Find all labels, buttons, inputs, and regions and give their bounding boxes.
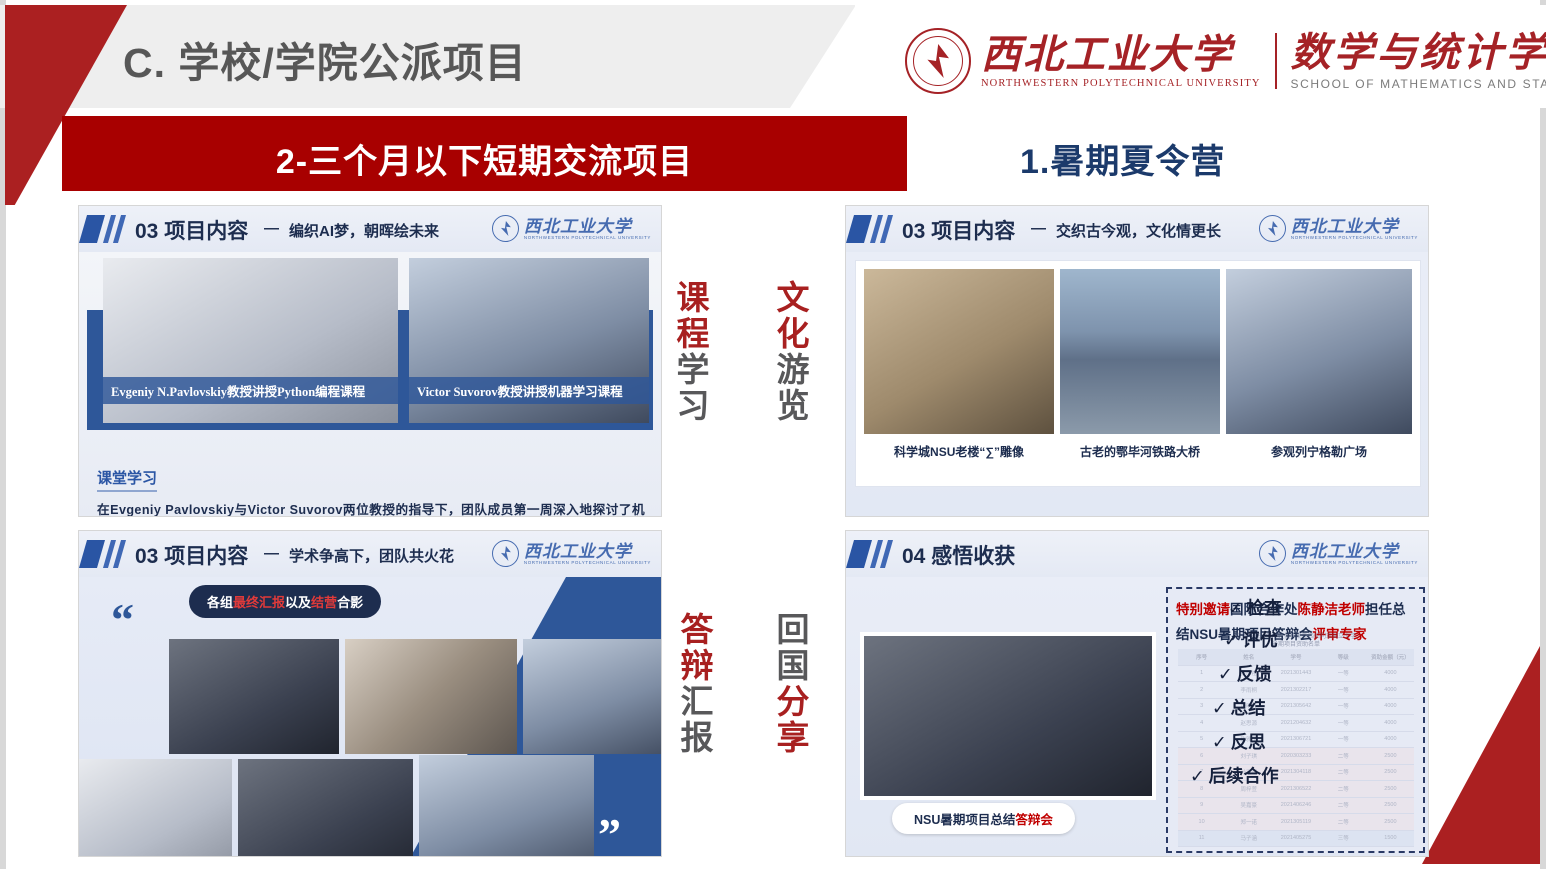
pill-hl1: 最终汇报 bbox=[233, 595, 285, 610]
school-name-en: SCHOOL OF MATHEMATICS AND STATISTICS bbox=[1291, 77, 1546, 91]
table-cell: 2021305642 bbox=[1272, 703, 1319, 709]
card2-logo-cn: 西北工业大学 bbox=[524, 543, 651, 560]
university-name-en: NORTHWESTERN POLYTECHNICAL UNIVERSITY bbox=[981, 78, 1261, 89]
side-label-return-share: 回国分享 bbox=[768, 612, 812, 756]
table-cell: 2020303233 bbox=[1272, 753, 1319, 759]
table-cell: 三等 bbox=[1320, 834, 1367, 842]
table-cell: 9 bbox=[1178, 802, 1225, 808]
table-cell: 2500 bbox=[1367, 786, 1414, 792]
card1-dash: — bbox=[264, 220, 279, 237]
card3-caption-1: 科学城NSU老楼“∑”雕像 bbox=[864, 443, 1054, 460]
card3-logo-cn: 西北工业大学 bbox=[1291, 218, 1418, 235]
table-cell: 2500 bbox=[1367, 769, 1414, 775]
side-label-tour: 游览 bbox=[772, 352, 809, 424]
table-header-cell: 姓名 bbox=[1225, 653, 1272, 661]
card3-caption-3: 参观列宁格勒广场 bbox=[1226, 443, 1412, 460]
table-row: 10郑一诺2021305119二等2500 bbox=[1178, 814, 1414, 831]
table-cell: 马子涵 bbox=[1225, 834, 1272, 842]
corner-accent-bottom-right bbox=[1422, 646, 1540, 864]
table-cell: 10 bbox=[1178, 819, 1225, 825]
card3-caption-2: 古老的鄂毕河铁路大桥 bbox=[1060, 443, 1220, 460]
school-name-cn: 数学与统计学院 bbox=[1291, 32, 1546, 74]
card4-capsule-label: NSU暑期项目总结答辩会 bbox=[892, 803, 1075, 834]
card3-number: 03 bbox=[902, 220, 925, 243]
card4-title: 感悟收获 bbox=[931, 545, 1015, 568]
banner-short-term-program: 2-三个月以下短期交流项目 bbox=[62, 116, 907, 191]
table-cell: 一等 bbox=[1320, 686, 1367, 694]
card4-heading: 04 感悟收获 bbox=[902, 540, 1015, 570]
slash-bars-icon bbox=[846, 531, 898, 577]
card2-photo-mask-rcnn-report bbox=[419, 755, 594, 857]
table-cell: 二等 bbox=[1320, 818, 1367, 826]
card4-university-logo-icon: 西北工业大学NORTHWESTERN POLYTECHNICAL UNIVERS… bbox=[1259, 540, 1418, 567]
card3-subtitle: 交织古今观，文化情更长 bbox=[1056, 220, 1221, 241]
table-cell: 2500 bbox=[1367, 819, 1414, 825]
table-cell: 2500 bbox=[1367, 802, 1414, 808]
table-cell: 2021306522 bbox=[1272, 786, 1319, 792]
side-label-defense: 答辩 bbox=[676, 612, 713, 684]
table-cell: 4000 bbox=[1367, 703, 1414, 709]
side-label-study: 学习 bbox=[672, 352, 709, 424]
university-logo: 西北工业大学 NORTHWESTERN POLYTECHNICAL UNIVER… bbox=[905, 28, 1546, 94]
table-cell: 2021301443 bbox=[1272, 670, 1319, 676]
table-cell: 1500 bbox=[1367, 835, 1414, 841]
table-row: 11马子涵2021405275三等1500 bbox=[1178, 831, 1414, 848]
card3-title: 项目内容 bbox=[931, 220, 1015, 243]
slash-bars-icon bbox=[79, 206, 131, 252]
card4-logo-en: NORTHWESTERN POLYTECHNICAL UNIVERSITY bbox=[1291, 560, 1418, 565]
table-cell: 2021304118 bbox=[1272, 769, 1319, 775]
quote-close-icon: ” bbox=[598, 820, 621, 850]
table-caption-line2: 暑期项目资助名单 bbox=[1178, 641, 1414, 649]
side-label-culture-tour: 文化游览 bbox=[768, 280, 812, 424]
card1-title: 项目内容 bbox=[164, 220, 248, 243]
card1-header: 03 项目内容 — 编织AI梦，朝晖绘未来 西北工业大学NORTHWESTERN… bbox=[79, 206, 661, 253]
banner-summer-camp: 1.暑期夏令营 bbox=[930, 116, 1546, 191]
table-cell: 一等 bbox=[1320, 719, 1367, 727]
table-cell: 4000 bbox=[1367, 687, 1414, 693]
table-cell: 2021306721 bbox=[1272, 736, 1319, 742]
panel-hl2: 陈静洁老师 bbox=[1298, 602, 1366, 617]
card1-logo-en: NORTHWESTERN POLYTECHNICAL UNIVERSITY bbox=[524, 235, 651, 240]
side-label-course-study: 课程学习 bbox=[668, 280, 712, 424]
table-cell: 二等 bbox=[1320, 768, 1367, 776]
quote-open-icon: “ bbox=[111, 605, 134, 635]
card1-caption-2: Victor Suvorov教授讲授机器学习课程 bbox=[409, 377, 649, 404]
card3-university-logo-icon: 西北工业大学NORTHWESTERN POLYTECHNICAL UNIVERS… bbox=[1259, 215, 1418, 242]
table-row: 1吴彦祖2021301443一等4000 bbox=[1178, 666, 1414, 683]
checklist-item-2: ✓反馈 bbox=[1218, 661, 1272, 686]
pill-post: 合影 bbox=[337, 595, 363, 610]
school-name-block: 数学与统计学院 SCHOOL OF MATHEMATICS AND STATIS… bbox=[1291, 32, 1546, 91]
side-label-defense-report: 答辩汇报 bbox=[672, 612, 716, 756]
card2-body: “ 各组最终汇报以及结营合影 ” bbox=[79, 577, 661, 856]
card2-logo-en: NORTHWESTERN POLYTECHNICAL UNIVERSITY bbox=[524, 560, 651, 565]
table-header-cell: 资助金额（元） bbox=[1367, 653, 1414, 661]
side-label-share: 分享 bbox=[772, 684, 809, 756]
side-label-report: 汇报 bbox=[676, 684, 713, 756]
card2-dash: — bbox=[264, 545, 279, 562]
checklist-item-3: ✓总结 bbox=[1212, 695, 1266, 720]
checklist-item-5: ✓后续合作 bbox=[1190, 763, 1279, 788]
card2-subtitle: 学术争高下，团队共火花 bbox=[289, 545, 454, 566]
table-cell: 郑一诺 bbox=[1225, 818, 1272, 826]
checklist-item-0: ✓检查 bbox=[1228, 595, 1282, 620]
table-cell: 一等 bbox=[1320, 702, 1367, 710]
check-icon: ✓ bbox=[1212, 732, 1227, 752]
card4-number: 04 bbox=[902, 545, 925, 568]
check-icon: ✓ bbox=[1224, 630, 1239, 650]
table-cell: 二等 bbox=[1320, 801, 1367, 809]
page-title: C. 学校/学院公派项目 bbox=[123, 29, 527, 89]
table-cell: 二等 bbox=[1320, 785, 1367, 793]
table-cell: 2021406246 bbox=[1272, 802, 1319, 808]
card2-heading: 03 项目内容 bbox=[135, 540, 248, 570]
table-cell: 2021204632 bbox=[1272, 720, 1319, 726]
card2-photo-presentation-1 bbox=[345, 639, 517, 754]
card1-caption-1: Evgeniy N.Pavlovskiy教授讲授Python编程课程 bbox=[103, 377, 398, 404]
checklist-item-1: ✓评优 bbox=[1224, 627, 1278, 652]
card1-note-body: 在Evgeniy Pavlovskiy与Victor Suvorov两位教授的指… bbox=[97, 500, 645, 517]
card4-header: 04 感悟收获 西北工业大学NORTHWESTERN POLYTECHNICAL… bbox=[846, 531, 1428, 578]
check-icon: ✓ bbox=[1190, 766, 1205, 786]
card3-photo-ob-river-bridge bbox=[1060, 269, 1220, 434]
card-reflection-harvest[interactable]: 04 感悟收获 西北工业大学NORTHWESTERN POLYTECHNICAL… bbox=[845, 530, 1429, 857]
card4-body: NSU暑期项目总结答辩会 特别邀请国际合作处陈静洁老师担任总结NSU暑期项目答辩… bbox=[846, 577, 1428, 856]
slash-bars-icon bbox=[79, 531, 131, 577]
table-header-cell: 序号 bbox=[1178, 653, 1225, 661]
card1-note-title: 课堂学习 bbox=[97, 467, 157, 492]
card4-photo-defense-meeting bbox=[860, 632, 1156, 800]
banner-right-label: 1.暑期夏令营 bbox=[1020, 134, 1225, 183]
card-culture-tour[interactable]: 03 项目内容 — 交织古今观，文化情更长 西北工业大学NORTHWESTERN… bbox=[845, 205, 1429, 517]
card4-logo-cn: 西北工业大学 bbox=[1291, 543, 1418, 560]
pill-pre: 各组 bbox=[207, 595, 233, 610]
side-label-return: 回国 bbox=[772, 612, 809, 684]
table-cell: 李雨桐 bbox=[1225, 686, 1272, 694]
pill-mid: 以及 bbox=[285, 595, 311, 610]
card4-invitation-panel: 特别邀请国际合作处陈静洁老师担任总结NSU暑期项目答辩会评审专家 数学与统计学院… bbox=[1166, 587, 1425, 853]
table-cell: 11 bbox=[1178, 835, 1225, 841]
banner-left-label: 2-三个月以下短期交流项目 bbox=[62, 134, 907, 183]
table-cell: 一等 bbox=[1320, 735, 1367, 743]
card2-university-logo-icon: 西北工业大学NORTHWESTERN POLYTECHNICAL UNIVERS… bbox=[492, 540, 651, 567]
slide-root: C. 学校/学院公派项目 西北工业大学 NORTHWESTERN POLYTEC… bbox=[0, 0, 1546, 869]
table-cell: 4000 bbox=[1367, 720, 1414, 726]
checklist-item-4: ✓反思 bbox=[1212, 729, 1266, 754]
university-name-block: 西北工业大学 NORTHWESTERN POLYTECHNICAL UNIVER… bbox=[981, 34, 1261, 89]
table-cell: 吴嘉豪 bbox=[1225, 801, 1272, 809]
slash-bars-icon bbox=[846, 206, 898, 252]
card3-body: 科学城NSU老楼“∑”雕像 古老的鄂毕河铁路大桥 参观列宁格勒广场 bbox=[846, 252, 1428, 516]
card1-note: 课堂学习 在Evgeniy Pavlovskiy与Victor Suvorov两… bbox=[97, 467, 645, 517]
table-header-row: 序号姓名学号等级资助金额（元） bbox=[1178, 649, 1414, 666]
card4-table-caption: 数学与统计学院赴俄罗斯新西伯利亚国立大学 暑期项目资助名单 bbox=[1178, 633, 1414, 649]
table-cell: 二等 bbox=[1320, 752, 1367, 760]
card2-photo-presentation-2 bbox=[523, 639, 662, 754]
table-row: 9吴嘉豪2021406246二等2500 bbox=[1178, 798, 1414, 815]
table-cell: 2021405275 bbox=[1272, 835, 1319, 841]
table-cell: 4000 bbox=[1367, 736, 1414, 742]
card2-pill-label: 各组最终汇报以及结营合影 bbox=[189, 585, 381, 618]
capsule-hl: 答辩会 bbox=[1015, 813, 1053, 827]
card-defense-report[interactable]: 03 项目内容 — 学术争高下，团队共火花 西北工业大学NORTHWESTERN… bbox=[78, 530, 662, 857]
table-cell: 2500 bbox=[1367, 753, 1414, 759]
card2-photo-presentation-3 bbox=[78, 759, 232, 857]
table-cell: 4000 bbox=[1367, 670, 1414, 676]
card3-photo-lenin-square bbox=[1226, 269, 1412, 434]
table-cell: 2021305119 bbox=[1272, 819, 1319, 825]
side-label-culture: 文化 bbox=[772, 280, 809, 352]
card3-header: 03 项目内容 — 交织古今观，文化情更长 西北工业大学NORTHWESTERN… bbox=[846, 206, 1428, 253]
card-course-study[interactable]: 03 项目内容 — 编织AI梦，朝晖绘未来 西北工业大学NORTHWESTERN… bbox=[78, 205, 662, 517]
card2-title: 项目内容 bbox=[164, 545, 248, 568]
panel-hl1: 特别邀请 bbox=[1176, 602, 1230, 617]
card3-photo-frame: 科学城NSU老楼“∑”雕像 古老的鄂毕河铁路大桥 参观列宁格勒广场 bbox=[855, 260, 1421, 487]
check-icon: ✓ bbox=[1212, 698, 1227, 718]
table-caption-line1: 数学与统计学院赴俄罗斯新西伯利亚国立大学 bbox=[1178, 633, 1414, 641]
table-cell: 4 bbox=[1178, 720, 1225, 726]
card2-header: 03 项目内容 — 学术争高下，团队共火花 西北工业大学NORTHWESTERN… bbox=[79, 531, 661, 578]
check-icon: ✓ bbox=[1228, 598, 1243, 618]
table-header-cell: 学号 bbox=[1272, 653, 1319, 661]
card1-university-logo-icon: 西北工业大学NORTHWESTERN POLYTECHNICAL UNIVERS… bbox=[492, 215, 651, 242]
card1-number: 03 bbox=[135, 220, 158, 243]
university-seal-icon bbox=[905, 28, 971, 94]
pill-hl2: 结营 bbox=[311, 595, 337, 610]
card1-subtitle: 编织AI梦，朝晖绘未来 bbox=[289, 220, 439, 241]
table-cell: 2 bbox=[1178, 687, 1225, 693]
table-cell: 一等 bbox=[1320, 669, 1367, 677]
check-icon: ✓ bbox=[1218, 664, 1233, 684]
card3-photo-nsu-sigma bbox=[864, 269, 1054, 434]
logo-divider bbox=[1275, 33, 1277, 89]
table-cell: 2021302217 bbox=[1272, 687, 1319, 693]
card2-number: 03 bbox=[135, 545, 158, 568]
card1-logo-cn: 西北工业大学 bbox=[524, 218, 651, 235]
university-name-cn: 西北工业大学 bbox=[981, 34, 1261, 76]
capsule-pre: NSU暑期项目总结 bbox=[914, 813, 1015, 827]
card2-photo-group-photo bbox=[169, 639, 339, 754]
card1-heading: 03 项目内容 bbox=[135, 215, 248, 245]
card3-heading: 03 项目内容 bbox=[902, 215, 1015, 245]
card1-body: Evgeniy N.Pavlovskiy教授讲授Python编程课程 Victo… bbox=[79, 252, 661, 516]
card3-dash: — bbox=[1031, 220, 1046, 237]
card2-photo-presentation-4 bbox=[238, 759, 413, 857]
table-header-cell: 等级 bbox=[1320, 653, 1367, 661]
side-label-course: 课程 bbox=[672, 280, 709, 352]
card3-logo-en: NORTHWESTERN POLYTECHNICAL UNIVERSITY bbox=[1291, 235, 1418, 240]
